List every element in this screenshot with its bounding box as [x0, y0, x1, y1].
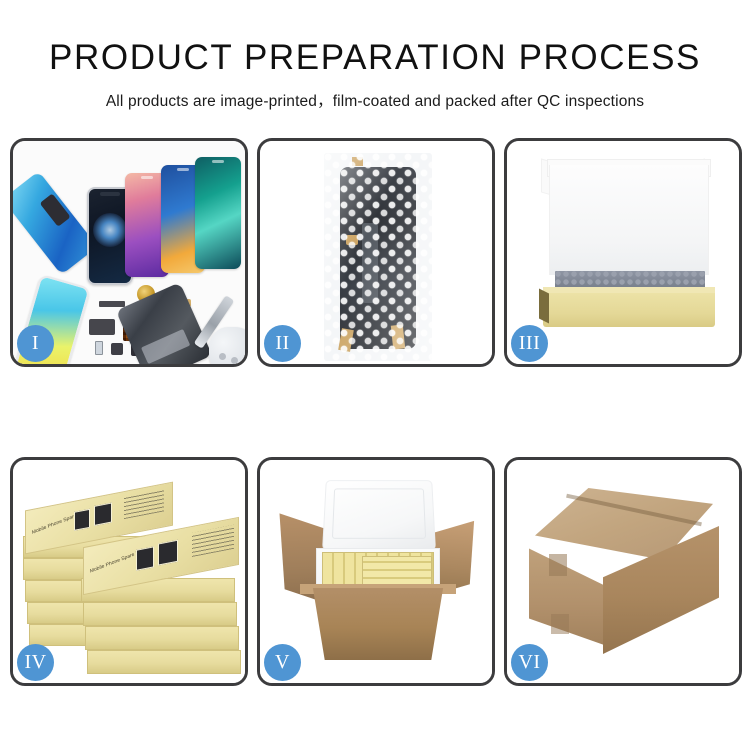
metal-bar-part — [99, 301, 125, 307]
product-preparation-process-page: PRODUCT PREPARATION PROCESS All products… — [0, 0, 750, 750]
process-step-grid: I II — [10, 138, 742, 686]
bag-sheen — [324, 153, 432, 361]
screws — [219, 353, 243, 364]
styrofoam-lid — [322, 480, 436, 550]
box-window — [94, 502, 112, 525]
bubble-wrap-bag — [324, 153, 432, 361]
tape-seal-2 — [551, 614, 569, 634]
process-step-5: V — [257, 457, 495, 686]
adhesive-film — [13, 171, 98, 275]
process-step-4: Mobile Phone Spare Parts Mobile Phone Sp… — [10, 457, 248, 686]
process-step-1: I — [10, 138, 248, 367]
box-window — [158, 540, 178, 566]
box-front-panel — [543, 293, 715, 327]
box-window — [74, 509, 90, 531]
process-step-3: III — [504, 138, 742, 367]
step-badge-2: II — [264, 325, 301, 362]
process-step-6: VI — [504, 457, 742, 686]
page-subtitle: All products are image-printed，film-coat… — [0, 89, 750, 111]
small-part-1 — [95, 341, 103, 355]
step-badge-6: VI — [511, 644, 548, 681]
small-part-2 — [111, 343, 123, 355]
box-window — [136, 546, 154, 570]
foam-liner — [549, 165, 709, 275]
phone-teal — [195, 157, 241, 269]
step-badge-4: IV — [17, 644, 54, 681]
process-step-2: II — [257, 138, 495, 367]
step-badge-3: III — [511, 325, 548, 362]
stacked-box — [83, 602, 237, 626]
page-title: PRODUCT PREPARATION PROCESS — [0, 38, 750, 78]
page-header: PRODUCT PREPARATION PROCESS All products… — [0, 0, 750, 111]
box-spec-lines — [124, 489, 164, 519]
box-stack: Mobile Phone Spare Parts Mobile Phone Sp… — [19, 474, 245, 680]
carton-front — [304, 588, 452, 660]
flex-cable-part-2 — [89, 319, 115, 335]
stacked-box — [85, 626, 239, 650]
box-spec-lines — [192, 525, 234, 557]
box-side-panel — [539, 289, 549, 324]
step-badge-1: I — [17, 325, 54, 362]
tape-seal-1 — [549, 554, 567, 576]
step-badge-5: V — [264, 644, 301, 681]
stacked-box — [87, 650, 241, 674]
